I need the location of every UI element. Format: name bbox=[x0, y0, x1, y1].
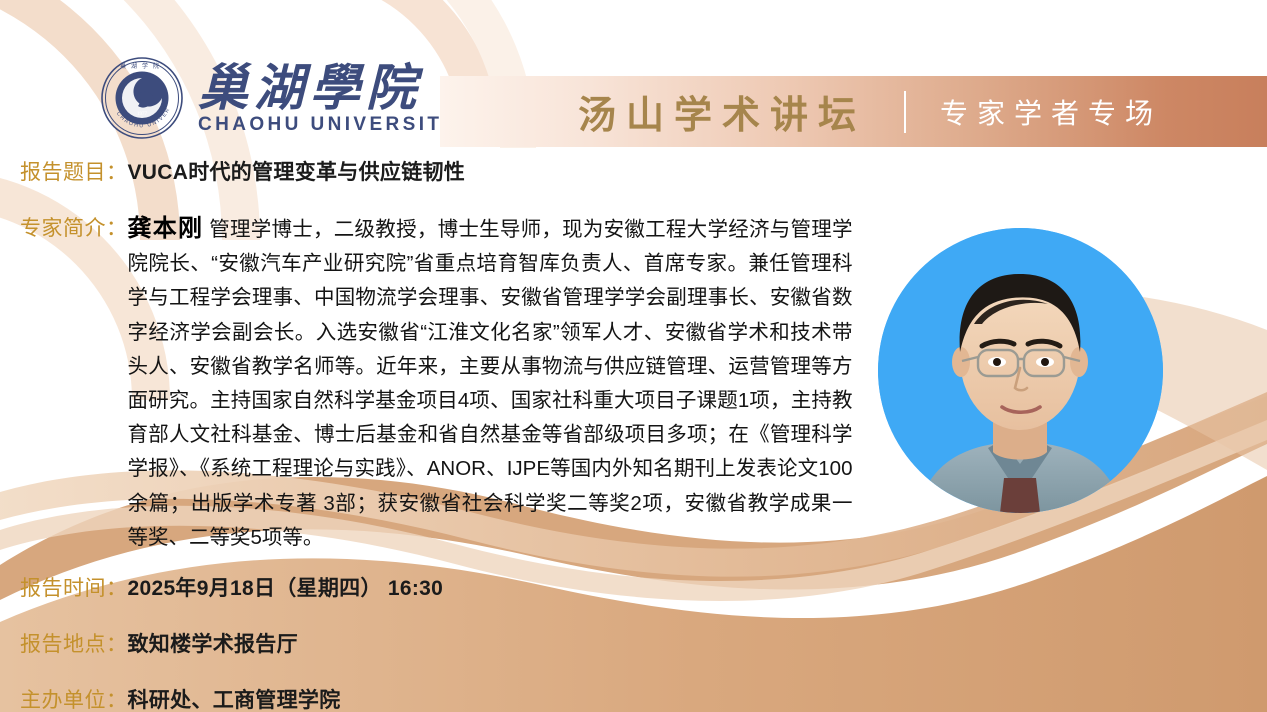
university-name-en: CHAOHU UNIVERSITY bbox=[198, 115, 458, 134]
university-name-cn: 巢湖學院 bbox=[198, 63, 458, 113]
field-label-report-title: 报告题目： bbox=[20, 156, 128, 186]
banner-main-title: 汤山学术讲坛 bbox=[578, 84, 866, 139]
svg-text:巢湖学院: 巢湖学院 bbox=[120, 62, 164, 70]
banner-subtitle: 专家学者专场 bbox=[940, 92, 1162, 132]
university-logo-block: 1977 巢湖学院 CHAOHU UNIVERSITY 巢湖學院 CHAOHU … bbox=[100, 56, 458, 140]
field-label-report-place: 报告地点： bbox=[20, 628, 128, 658]
field-report-place: 报告地点： 致知楼学术报告厅 bbox=[20, 628, 298, 658]
field-label-speaker-bio: 专家简介： bbox=[20, 212, 128, 242]
field-speaker-bio: 专家简介： 龚本刚 管理学博士，二级教授，博士生导师，现为安徽工程大学经济与管理… bbox=[20, 212, 853, 555]
field-value-report-time: 2025年9月18日（星期四） 16:30 bbox=[128, 572, 444, 602]
banner-divider-line bbox=[904, 91, 906, 133]
speaker-bio-text: 管理学博士，二级教授，博士生导师，现为安徽工程大学经济与管理学院院长、“安徽汽车… bbox=[128, 218, 853, 549]
chaohu-university-seal-icon: 1977 巢湖学院 CHAOHU UNIVERSITY bbox=[100, 56, 184, 140]
lecture-series-banner: 汤山学术讲坛 专家学者专场 bbox=[440, 76, 1267, 147]
field-value-report-title: VUCA时代的管理变革与供应链韧性 bbox=[128, 156, 466, 186]
svg-text:1977: 1977 bbox=[137, 112, 148, 117]
field-value-speaker-bio: 龚本刚 管理学博士，二级教授，博士生导师，现为安徽工程大学经济与管理学院院长、“… bbox=[128, 212, 853, 555]
field-label-report-time: 报告时间： bbox=[20, 572, 128, 602]
speaker-name: 龚本刚 bbox=[128, 215, 204, 242]
field-value-report-place: 致知楼学术报告厅 bbox=[128, 628, 298, 658]
field-report-time: 报告时间： 2025年9月18日（星期四） 16:30 bbox=[20, 572, 443, 602]
field-host-organization: 主办单位： 科研处、工商管理学院 bbox=[20, 684, 341, 712]
field-report-title: 报告题目： VUCA时代的管理变革与供应链韧性 bbox=[20, 156, 465, 186]
university-name-block: 巢湖學院 CHAOHU UNIVERSITY bbox=[198, 63, 458, 134]
field-label-host-organization: 主办单位： bbox=[20, 684, 128, 712]
poster-header: 1977 巢湖学院 CHAOHU UNIVERSITY 巢湖學院 CHAOHU … bbox=[0, 0, 1267, 150]
speaker-portrait-photo bbox=[878, 228, 1163, 513]
poster-root: 1977 巢湖学院 CHAOHU UNIVERSITY 巢湖學院 CHAOHU … bbox=[0, 0, 1267, 712]
field-value-host-organization: 科研处、工商管理学院 bbox=[128, 684, 341, 712]
